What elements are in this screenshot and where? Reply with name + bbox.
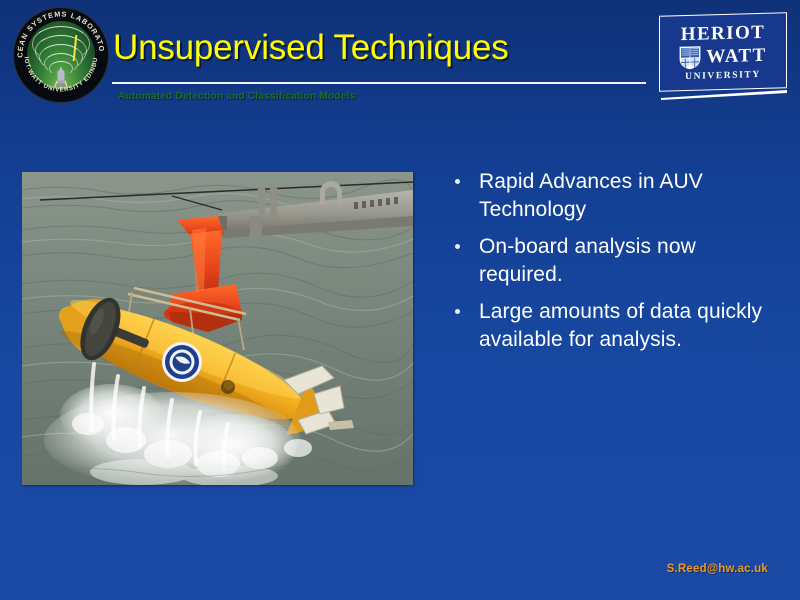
bullet-dot-icon xyxy=(455,179,460,184)
slide-subtitle: Automated Detection and Classification M… xyxy=(118,91,355,102)
list-item: On-board analysis now required. xyxy=(447,233,783,289)
hw-logo-swoosh xyxy=(661,88,787,100)
ocean-systems-laboratory-logo: OCEAN SYSTEMS LABORATORY HERIOT-WATT UNI… xyxy=(14,8,108,102)
footer-contact-email[interactable]: S.Reed@hw.ac.uk xyxy=(667,563,768,575)
osl-sonar-tower-icon xyxy=(54,67,69,87)
page-title: Unsupervised Techniques xyxy=(113,26,509,70)
heriot-watt-university-logo: HERIOT WATT UNIVERSITY xyxy=(659,14,787,102)
list-item-label: Large amounts of data quickly available … xyxy=(479,300,762,351)
bullet-dot-icon xyxy=(455,244,460,249)
list-item: Large amounts of data quickly available … xyxy=(447,298,783,354)
bullet-list: Rapid Advances in AUV Technology On-boar… xyxy=(447,168,783,363)
list-item: Rapid Advances in AUV Technology xyxy=(447,168,783,224)
shield-crest-icon xyxy=(679,45,701,70)
title-underline-rule xyxy=(112,82,646,84)
osl-logo-disc xyxy=(27,21,95,89)
hw-logo-line-heriot: HERIOT xyxy=(681,22,765,43)
bullet-dot-icon xyxy=(455,309,460,314)
list-item-label: On-board analysis now required. xyxy=(479,235,696,286)
list-item-label: Rapid Advances in AUV Technology xyxy=(479,170,703,221)
hw-logo-content: HERIOT WATT UNIVERSITY xyxy=(659,12,787,92)
presentation-slide: OCEAN SYSTEMS LABORATORY HERIOT-WATT UNI… xyxy=(0,0,800,600)
auv-deployment-photo xyxy=(22,172,413,485)
hw-logo-line-university: UNIVERSITY xyxy=(685,69,761,81)
hw-logo-line-watt: WATT xyxy=(706,46,766,67)
slide-header: OCEAN SYSTEMS LABORATORY HERIOT-WATT UNI… xyxy=(0,0,800,120)
hw-logo-line-watt-row: WATT xyxy=(679,43,766,69)
